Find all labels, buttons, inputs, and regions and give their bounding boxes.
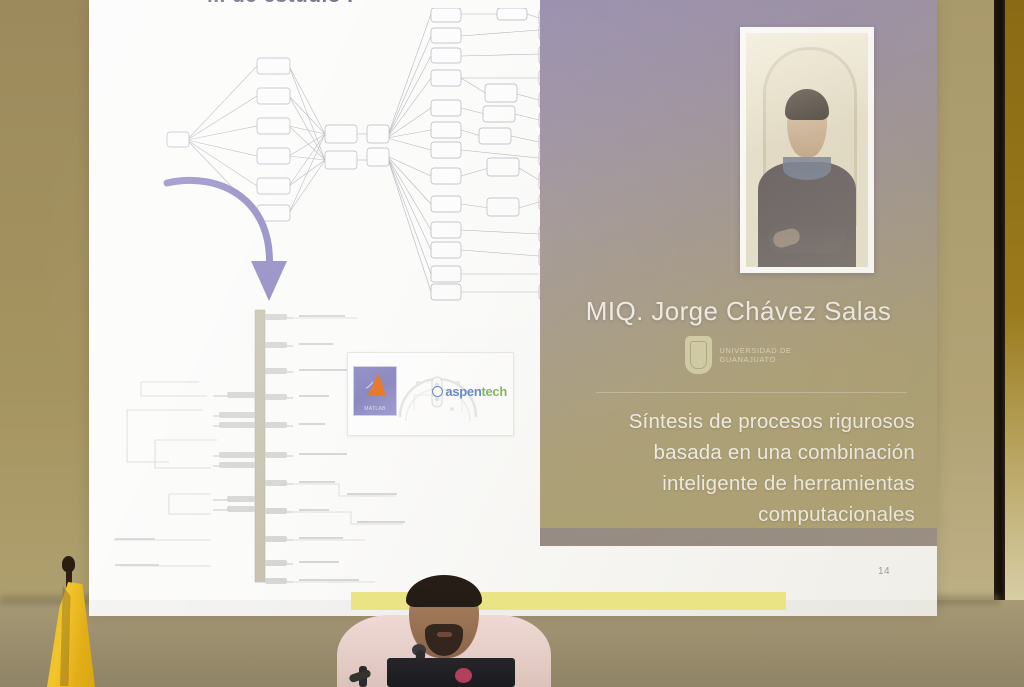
matlab-logo: MATLAB bbox=[353, 366, 397, 416]
slide-title: ... de estudio I bbox=[207, 0, 353, 8]
presenter-speaker bbox=[337, 572, 551, 687]
university-name: UNIVERSIDAD DE GUANAJUATO bbox=[719, 346, 791, 365]
subtitle-line-2: basada en una combinación bbox=[580, 437, 915, 468]
university-logo: UNIVERSIDAD DE GUANAJUATO bbox=[540, 336, 937, 374]
wall-right bbox=[936, 0, 996, 687]
speaker-mouth bbox=[437, 632, 452, 637]
slide-right-panel: MIQ. Jorge Chávez Salas UNIVERSIDAD DE G… bbox=[540, 0, 937, 546]
panel-footer-bar bbox=[540, 528, 937, 546]
subtitle-line-1: Síntesis de procesos rigurosos bbox=[580, 406, 915, 437]
presenter-photo-frame bbox=[740, 27, 874, 273]
presenter-name: MIQ. Jorge Chávez Salas bbox=[540, 296, 937, 327]
university-line-1: UNIVERSIDAD DE bbox=[719, 346, 791, 356]
aspen-primary-text: aspen bbox=[445, 384, 481, 399]
wall-far-right bbox=[1005, 0, 1024, 687]
software-logos-card: MATLAB aspentech bbox=[347, 352, 514, 436]
speaker-hair bbox=[406, 575, 482, 607]
aspentech-logo: aspentech bbox=[432, 384, 507, 399]
aspen-secondary-text: tech bbox=[481, 384, 507, 399]
laptop-sticker bbox=[455, 668, 472, 683]
projection-room-scene: ... de estudio I bbox=[0, 0, 1024, 687]
university-line-2: GUANAJUATO bbox=[719, 355, 791, 365]
panel-divider bbox=[596, 392, 907, 393]
laptop bbox=[387, 658, 515, 687]
subtitle-line-3: inteligente de herramientas bbox=[580, 468, 915, 499]
presenter-photo bbox=[746, 33, 868, 267]
photo-projector-glare bbox=[746, 33, 868, 267]
slide-page-number: 14 bbox=[878, 566, 890, 577]
subtitle-line-4: computacionales bbox=[580, 499, 915, 530]
presentation-slide: ... de estudio I bbox=[89, 0, 937, 600]
presentation-subtitle: Síntesis de procesos rigurosos basada en… bbox=[580, 406, 915, 530]
flag-finial bbox=[62, 556, 75, 572]
projection-screen: ... de estudio I bbox=[89, 0, 937, 616]
wall-dark-edge bbox=[994, 0, 1005, 687]
matlab-label: MATLAB bbox=[354, 406, 396, 412]
process-flow-diagram bbox=[107, 300, 427, 600]
aspen-mark-icon bbox=[432, 386, 443, 397]
university-crest-icon bbox=[685, 336, 712, 374]
matlab-membrane-icon bbox=[365, 372, 387, 400]
